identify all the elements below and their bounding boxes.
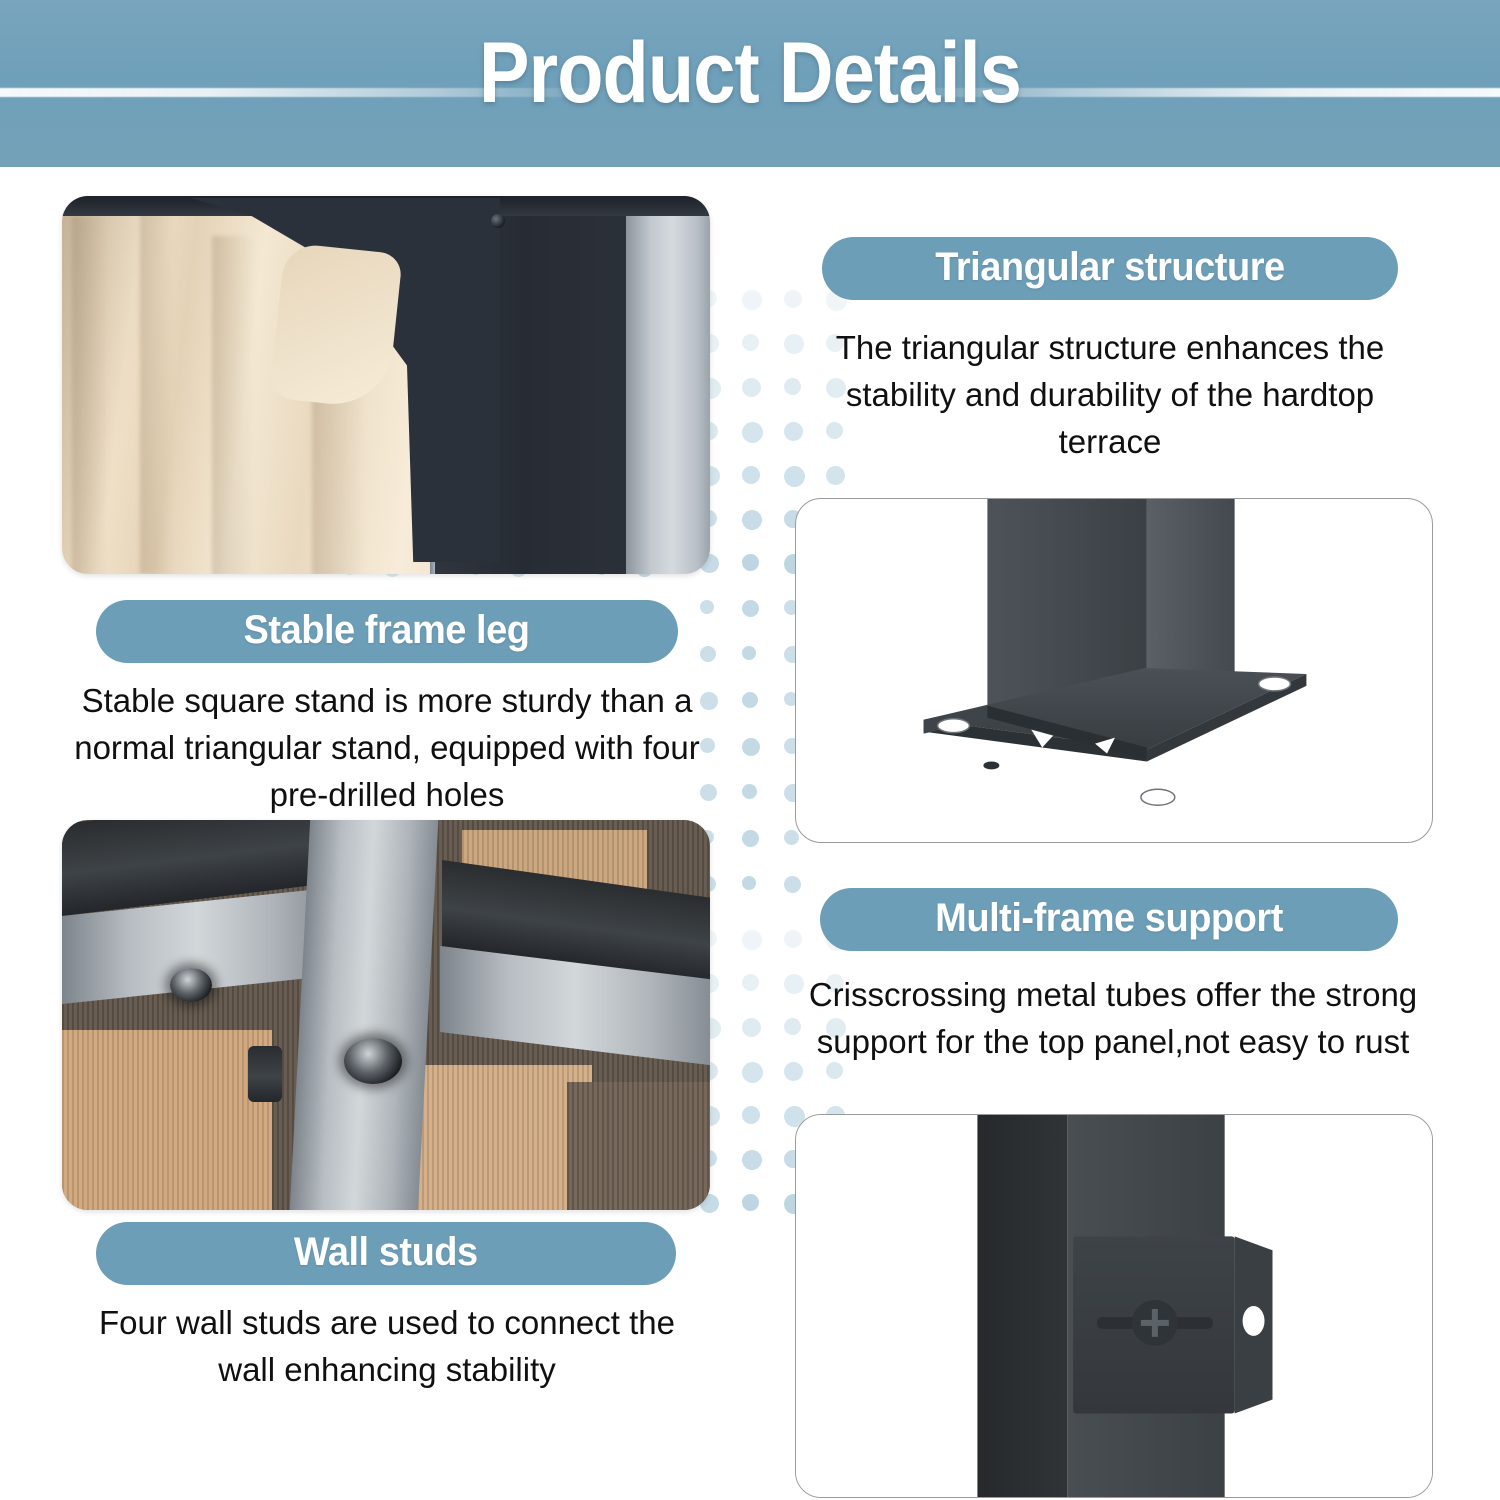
decorative-dot <box>742 974 759 991</box>
wall-stud-illustration <box>796 1115 1432 1497</box>
bracket-tab <box>248 1046 282 1102</box>
feature-label-wall-studs: Wall studs <box>96 1222 676 1285</box>
decorative-dot <box>742 378 761 397</box>
decorative-dot <box>742 334 759 351</box>
wall-stud-bracket-render <box>795 1114 1433 1498</box>
wood-ceiling-panel <box>567 1082 710 1210</box>
decorative-dot <box>700 738 715 753</box>
decorative-dot <box>742 876 756 890</box>
decorative-dot <box>742 930 762 950</box>
decorative-dot <box>700 646 716 662</box>
feature-label-triangular-structure: Triangular structure <box>822 237 1398 300</box>
decorative-dot <box>742 554 759 571</box>
decorative-dot <box>742 1150 762 1170</box>
fabric-fold <box>72 216 132 574</box>
decorative-dot <box>742 466 760 484</box>
feature-description-multi-frame-support: Crisscrossing metal tubes offer the stro… <box>768 972 1458 1066</box>
decorative-dot <box>826 466 845 485</box>
decorative-dot <box>784 466 805 487</box>
decorative-dot <box>742 1062 763 1083</box>
decorative-dot <box>742 600 759 617</box>
wood-ceiling-panel <box>62 1030 272 1210</box>
post-base-plate-render <box>795 498 1433 843</box>
page-title: Product Details <box>90 28 1410 118</box>
decorative-dot <box>742 422 763 443</box>
decorative-dot <box>742 1106 760 1124</box>
screw-icon <box>491 214 505 228</box>
decorative-dot <box>742 830 759 847</box>
decorative-dot <box>742 646 756 660</box>
feature-description-triangular-structure: The triangular structure enhances the st… <box>790 325 1430 466</box>
page-header: Product Details <box>0 0 1500 167</box>
decorative-dot-grid-middle <box>700 600 810 930</box>
feature-label-stable-frame-leg: Stable frame leg <box>96 600 678 663</box>
decorative-dot <box>784 930 802 948</box>
canopy-triangular-bracket-photo <box>62 196 710 574</box>
fabric-fold <box>212 236 282 574</box>
decorative-dot <box>742 290 762 310</box>
feature-description-wall-studs: Four wall studs are used to connect the … <box>72 1300 702 1394</box>
decorative-dot <box>742 1194 759 1211</box>
feature-label-multi-frame-support: Multi-frame support <box>820 888 1398 951</box>
decorative-dot <box>700 600 714 614</box>
decorative-dot <box>742 738 760 756</box>
fabric-fold <box>140 206 194 574</box>
decorative-dot <box>742 1018 761 1037</box>
base-plate-illustration <box>796 499 1432 842</box>
decorative-dot <box>700 692 718 710</box>
decorative-dot <box>700 784 717 801</box>
metal-support-tube-main <box>289 820 439 1210</box>
decorative-dot <box>742 784 757 799</box>
bolt-icon <box>170 968 212 1002</box>
decorative-dot <box>784 876 801 893</box>
decorative-dot <box>742 692 758 708</box>
decorative-dot <box>742 510 762 530</box>
feature-description-stable-frame-leg: Stable square stand is more sturdy than … <box>72 678 702 819</box>
bolt-icon <box>344 1038 402 1084</box>
crisscross-tubes-photo <box>62 820 710 1210</box>
decorative-dot <box>784 290 802 308</box>
silver-frame-edge <box>626 196 710 574</box>
